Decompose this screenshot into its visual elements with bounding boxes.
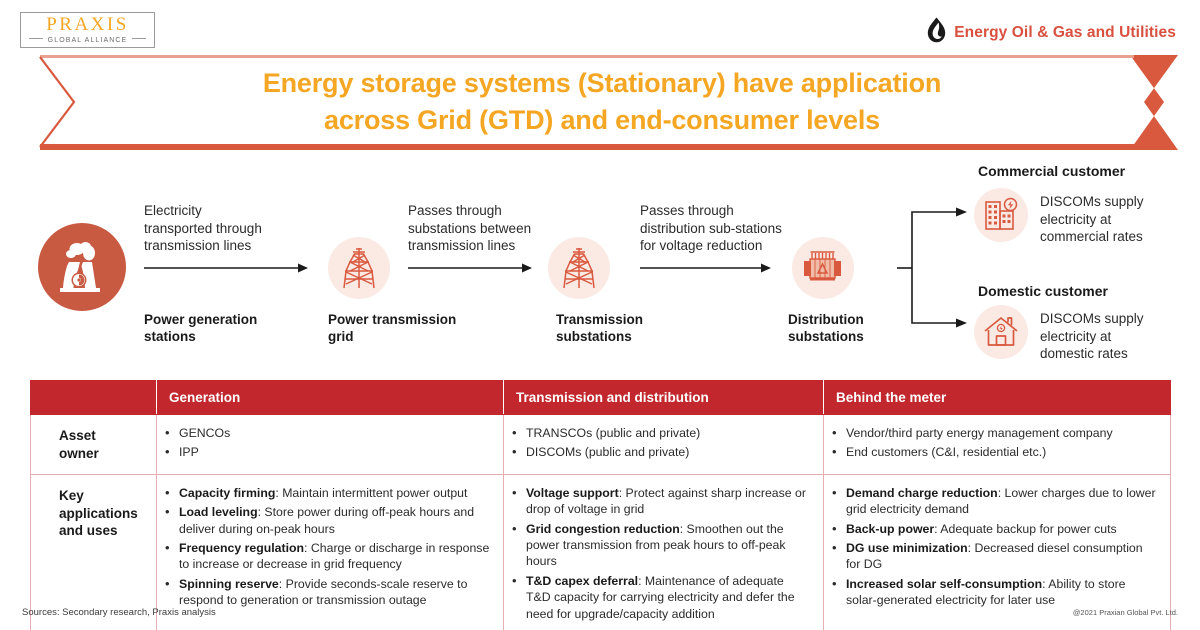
bullet-list: Demand charge reduction: Lower charges d… (830, 485, 1158, 608)
row-label-line-2: owner (59, 445, 146, 463)
caption-line-1: Power generation (144, 311, 314, 328)
step-line-3: transmission lines (144, 237, 339, 255)
commercial-building-icon (974, 188, 1028, 242)
caption-line-2: substations (556, 328, 726, 345)
cell-asset-owner-transmission: TRANSCOs (public and private)DISCOMs (pu… (504, 415, 824, 475)
bullet-list: TRANSCOs (public and private)DISCOMs (pu… (510, 425, 811, 461)
list-item-term: T&D capex deferral (526, 574, 638, 588)
caption-line-2: grid (328, 328, 498, 345)
copyright-note: @2021 Praxian Global Pvt. Ltd. (1073, 608, 1178, 617)
list-item-term: DG use minimization (846, 541, 968, 555)
desc-line-1: DISCOMs supply (1040, 193, 1190, 211)
customer-title: Commercial customer (978, 163, 1125, 179)
list-item: DG use minimization: Decreased diesel co… (830, 540, 1158, 573)
flow-arrow-1 (144, 262, 309, 274)
transformer-icon (792, 237, 854, 299)
flow-branch-arrows (896, 203, 976, 333)
cell-asset-owner-generation: GENCOsIPP (157, 415, 504, 475)
slide-page: PRAXIS GLOBAL ALLIANCE Energy Oil & Gas … (0, 0, 1200, 630)
step-line-2: substations between (408, 220, 608, 238)
logo-name: PRAXIS (46, 15, 129, 34)
logo-tagline: GLOBAL ALLIANCE (43, 37, 133, 44)
step-line-2: transported through (144, 220, 339, 238)
flow-node-caption: Power generation stations (144, 311, 314, 345)
table-header-transmission: Transmission and distribution (504, 381, 824, 415)
title-line-1: Energy storage systems (Stationary) have… (86, 65, 1118, 102)
customer-title: Domestic customer (978, 283, 1108, 299)
transmission-tower-icon (548, 237, 610, 299)
list-item: TRANSCOs (public and private) (510, 425, 811, 441)
logo-box: PRAXIS GLOBAL ALLIANCE (20, 12, 155, 48)
applications-table: Generation Transmission and distribution… (30, 380, 1171, 630)
list-item-term: Grid congestion reduction (526, 522, 680, 536)
list-item-term: Demand charge reduction (846, 486, 998, 500)
list-item-term: Capacity firming (179, 486, 275, 500)
table-header-generation: Generation (157, 381, 504, 415)
list-item: Voltage support: Protect against sharp i… (510, 485, 811, 518)
caption-line-1: Transmission (556, 311, 726, 328)
house-icon (974, 305, 1028, 359)
sector-label: Energy Oil & Gas and Utilities (954, 24, 1176, 42)
customer-description: DISCOMs supply electricity at commercial… (1040, 193, 1190, 246)
step-line-1: Passes through (408, 202, 608, 220)
flow-node-caption: Power transmission grid (328, 311, 498, 345)
list-item-term: Load leveling (179, 505, 258, 519)
step-line-1: Passes through (640, 202, 850, 220)
praxis-logo: PRAXIS GLOBAL ALLIANCE (20, 12, 155, 48)
table-header-behind-meter: Behind the meter (824, 381, 1171, 415)
row-label-line-2: applications (59, 505, 146, 523)
list-item-term: Spinning reserve (179, 577, 279, 591)
list-item-term: Voltage support (526, 486, 619, 500)
list-item: Load leveling: Store power during off-pe… (163, 504, 491, 537)
desc-line-3: domestic rates (1040, 345, 1190, 363)
sources-note: Sources: Secondary research, Praxis anal… (22, 607, 216, 618)
table-header-row: Generation Transmission and distribution… (31, 381, 1171, 415)
list-item: End customers (C&I, residential etc.) (830, 444, 1158, 460)
row-label-line-1: Key (59, 487, 146, 505)
customer-description: DISCOMs supply electricity at domestic r… (1040, 310, 1190, 363)
flow-arrow-3 (640, 262, 772, 274)
list-item-term: Increased solar self-consumption (846, 577, 1042, 591)
flow-arrow-2 (408, 262, 533, 274)
desc-line-3: commercial rates (1040, 228, 1190, 246)
list-item: GENCOs (163, 425, 491, 441)
list-item: Frequency regulation: Charge or discharg… (163, 540, 491, 573)
list-item: T&D capex deferral: Maintenance of adequ… (510, 573, 811, 622)
flow-step-text-1: Electricity transported through transmis… (144, 202, 339, 255)
bullet-list: Capacity firming: Maintain intermittent … (163, 485, 491, 608)
bullet-list: Voltage support: Protect against sharp i… (510, 485, 811, 622)
flame-droplet-icon (927, 17, 946, 48)
title-ribbon: Energy storage systems (Stationary) have… (26, 55, 1178, 150)
bullet-list: Vendor/third party energy management com… (830, 425, 1158, 461)
flow-node-caption: Transmission substations (556, 311, 726, 345)
desc-line-2: electricity at (1040, 328, 1190, 346)
table-header-blank (31, 381, 157, 415)
sector-tag: Energy Oil & Gas and Utilities (927, 17, 1176, 48)
desc-line-2: electricity at (1040, 211, 1190, 229)
step-line-1: Electricity (144, 202, 339, 220)
list-item: Capacity firming: Maintain intermittent … (163, 485, 491, 501)
step-line-2: distribution sub-stations (640, 220, 850, 238)
cell-key-applications-transmission: Voltage support: Protect against sharp i… (504, 475, 824, 630)
title-text: Energy storage systems (Stationary) have… (86, 65, 1118, 140)
list-item: DISCOMs (public and private) (510, 444, 811, 460)
list-item: IPP (163, 444, 491, 460)
list-item: Demand charge reduction: Lower charges d… (830, 485, 1158, 518)
transmission-tower-icon (328, 237, 390, 299)
cell-asset-owner-behind-meter: Vendor/third party energy management com… (824, 415, 1171, 475)
list-item: Back-up power: Adequate backup for power… (830, 521, 1158, 537)
row-label-asset-owner: Asset owner (31, 415, 157, 475)
list-item: Increased solar self-consumption: Abilit… (830, 576, 1158, 609)
row-label-line-1: Asset (59, 427, 146, 445)
list-item-term: Back-up power (846, 522, 934, 536)
process-flow-diagram: Power generation stations Electricity tr… (0, 155, 1200, 370)
caption-line-1: Power transmission (328, 311, 498, 328)
desc-line-1: DISCOMs supply (1040, 310, 1190, 328)
title-line-2: across Grid (GTD) and end-consumer level… (86, 102, 1118, 139)
bullet-list: GENCOsIPP (163, 425, 491, 461)
list-item: Grid congestion reduction: Smoothen out … (510, 521, 811, 570)
cell-key-applications-behind-meter: Demand charge reduction: Lower charges d… (824, 475, 1171, 630)
power-plant-icon (38, 223, 126, 311)
list-item: Vendor/third party energy management com… (830, 425, 1158, 441)
row-label-line-3: and uses (59, 522, 146, 540)
list-item-term: Frequency regulation (179, 541, 304, 555)
caption-line-2: stations (144, 328, 314, 345)
table-row: Asset owner GENCOsIPP TRANSCOs (public a… (31, 415, 1171, 475)
list-item: Spinning reserve: Provide seconds-scale … (163, 576, 491, 609)
